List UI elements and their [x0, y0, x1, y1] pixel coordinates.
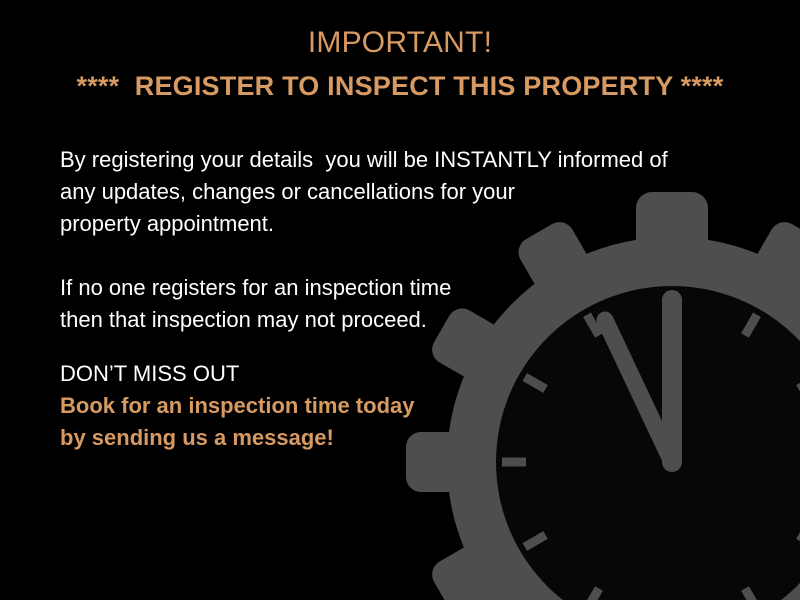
slide-text-content: IMPORTANT! **** REGISTER TO INSPECT THIS… — [0, 0, 800, 600]
paragraph-inspection-warning: If no one registers for an inspection ti… — [60, 272, 760, 336]
body-line: property appointment. — [60, 208, 760, 240]
heading-block: IMPORTANT! **** REGISTER TO INSPECT THIS… — [0, 24, 800, 106]
body-line: then that inspection may not proceed. — [60, 304, 760, 336]
call-to-action-line: Book for an inspection time today — [60, 390, 760, 422]
call-to-action-headline: DON’T MISS OUT — [60, 358, 760, 390]
body-line: If no one registers for an inspection ti… — [60, 272, 760, 304]
promo-slide: IMPORTANT! **** REGISTER TO INSPECT THIS… — [0, 0, 800, 600]
paragraph-registering-details: By registering your details you will be … — [60, 144, 760, 240]
paragraph-call-to-action: DON’T MISS OUT Book for an inspection ti… — [60, 358, 760, 454]
page-title: IMPORTANT! — [0, 24, 800, 62]
page-subtitle: **** REGISTER TO INSPECT THIS PROPERTY *… — [0, 66, 800, 106]
body-line: any updates, changes or cancellations fo… — [60, 176, 760, 208]
body-line: By registering your details you will be … — [60, 144, 760, 176]
call-to-action-line: by sending us a message! — [60, 422, 760, 454]
